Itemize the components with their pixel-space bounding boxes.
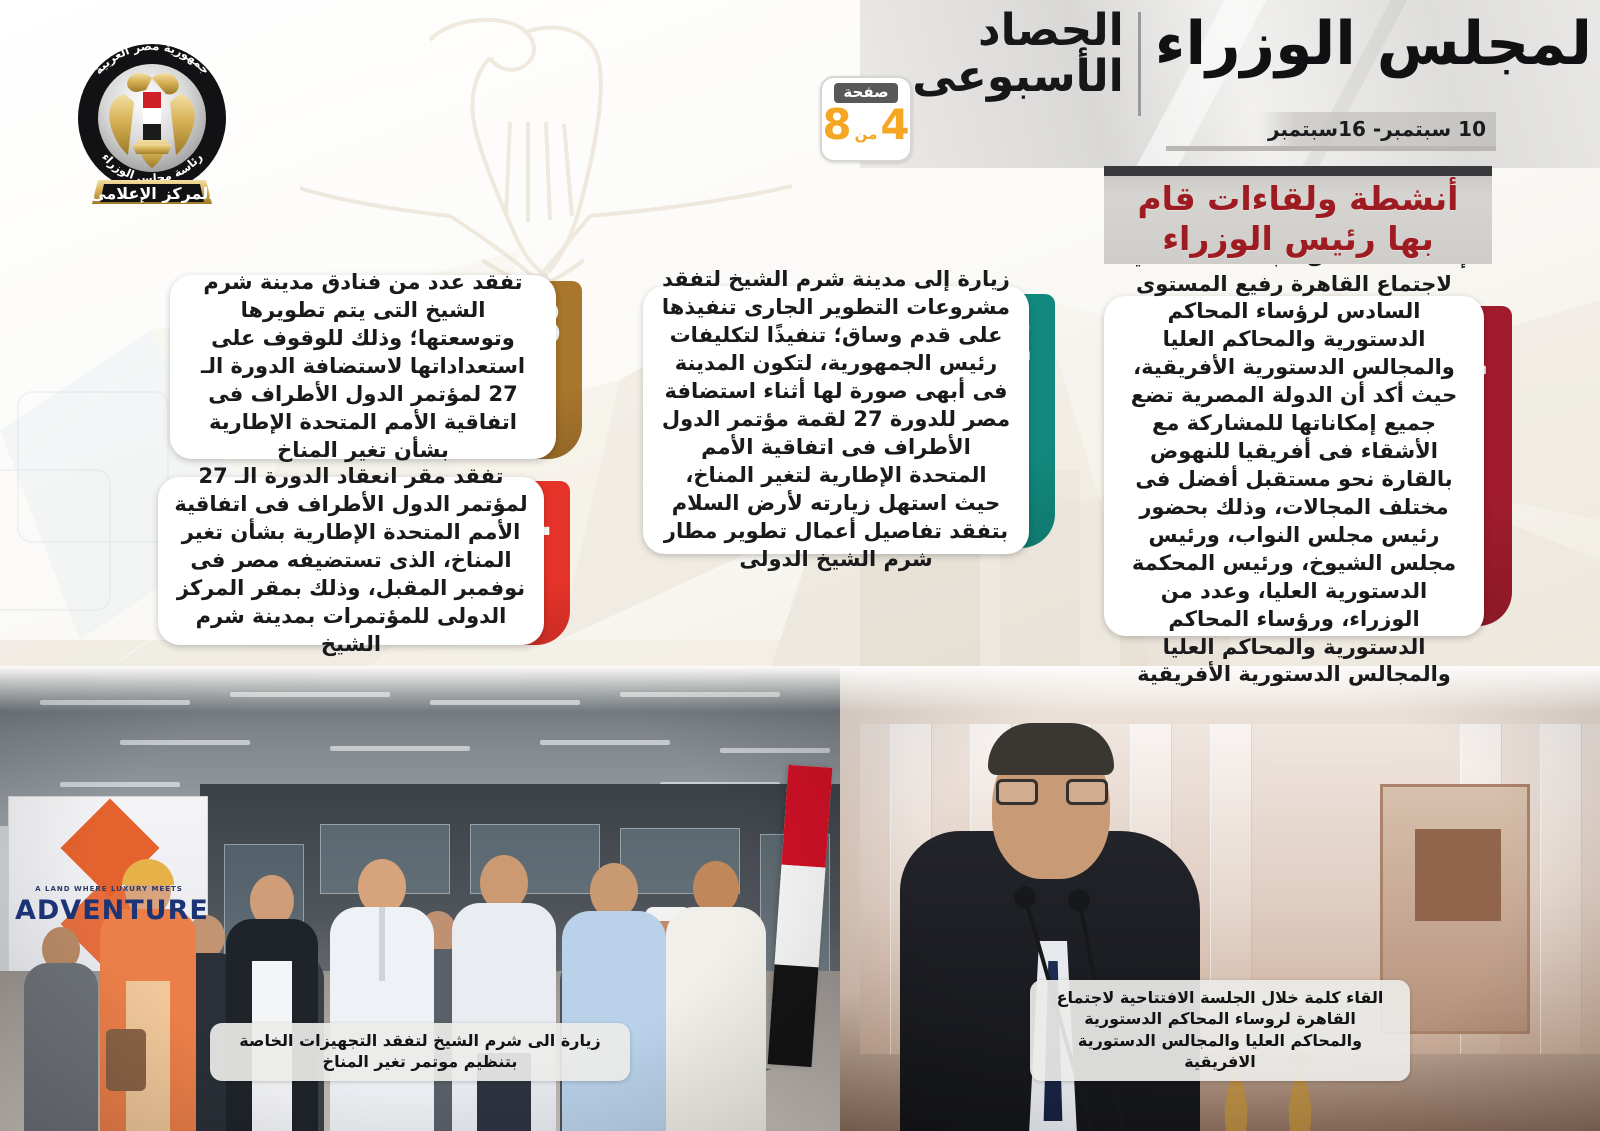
photo-sharm-airport-visit: A LAND WHERE LUXURY MEETS ADVENTURE <box>0 666 840 1131</box>
photo-left-caption: زيارة الى شرم الشيخ لتفقد التجهيزات الخا… <box>210 1023 630 1081</box>
activity-card-2-panel: زيارة إلى مدينة شرم الشيخ لتفقد مشروعات … <box>643 286 1029 554</box>
photo-strip: A LAND WHERE LUXURY MEETS ADVENTURE <box>0 666 1600 1131</box>
poster-header: لمجلس الوزراء الحصاد الأسبوعى 10 سبتمبر-… <box>892 4 1592 164</box>
page-subtitle: الحصاد الأسبوعى <box>912 6 1124 100</box>
activity-card-4: 4 تفقد مقر انعقاد الدورة الـ 27 لمؤتمر ا… <box>150 477 570 649</box>
date-range-text: 10 سبتمبر- 16سبتمبر <box>1268 117 1486 141</box>
handbag <box>106 1029 146 1091</box>
infographic-poster: جمهورية مصر العربية رئاسة مجلس الوزراء ا… <box>0 0 1600 1131</box>
activity-card-3: 3 تفقد عدد من فنادق مدينة شرم الشيخ التى… <box>162 275 582 463</box>
page-title: لمجلس الوزراء <box>1155 6 1592 74</box>
activity-card-2: 2 زيارة إلى مدينة شرم الشيخ لتفقد مشروعا… <box>635 286 1055 556</box>
page-badge-total: 8 <box>822 104 851 146</box>
activity-card-1-panel: إلقاء كلمة خلال الجلسة الافتتاحية لاجتما… <box>1104 296 1484 636</box>
section-heading-line1: أنشطة ولقاءات قام <box>1138 179 1459 219</box>
activity-card-2-text: زيارة إلى مدينة شرم الشيخ لتفقد مشروعات … <box>643 256 1029 583</box>
speaker-hair <box>988 723 1114 775</box>
section-heading: أنشطة ولقاءات قام بها رئيس الوزراء <box>1104 166 1492 264</box>
photo-left-caption-text: زيارة الى شرم الشيخ لتفقد التجهيزات الخا… <box>226 1030 614 1073</box>
page-badge-current: 4 <box>880 104 909 146</box>
page-subtitle-line2: الأسبوعى <box>912 54 1124 100</box>
activity-card-1: 1 إلقاء كلمة خلال الجلسة الافتتاحية لاجت… <box>1092 296 1512 636</box>
headscarf <box>122 859 174 885</box>
activity-card-4-panel: تفقد مقر انعقاد الدورة الـ 27 لمؤتمر الد… <box>158 477 544 645</box>
photo-right-caption: القاء كلمة خلال الجلسة الافتتاحية لاجتما… <box>1030 980 1410 1081</box>
activity-card-3-panel: تفقد عدد من فنادق مدينة شرم الشيخ التى ي… <box>170 275 556 459</box>
cabinet-media-center-logo: جمهورية مصر العربية رئاسة مجلس الوزراء ا… <box>62 22 242 212</box>
activity-card-4-text: تفقد مقر انعقاد الدورة الـ 27 لمؤتمر الد… <box>158 453 544 668</box>
activity-card-3-text: تفقد عدد من فنادق مدينة شرم الشيخ التى ي… <box>170 259 556 474</box>
page-number-badge: صفحة 4 من 8 <box>820 76 912 162</box>
date-range-bar: 10 سبتمبر- 16سبتمبر <box>1258 112 1496 146</box>
speaker-glasses <box>996 779 1108 805</box>
photo-pm-podium-speech: القاء كلمة خلال الجلسة الافتتاحية لاجتما… <box>840 666 1600 1131</box>
section-heading-text: أنشطة ولقاءات قام بها رئيس الوزراء <box>1138 171 1459 258</box>
page-subtitle-line1: الحصاد <box>912 8 1124 54</box>
section-heading-line2: بها رئيس الوزراء <box>1138 219 1459 259</box>
page-badge-of: من <box>855 127 878 142</box>
photo-right-caption-text: القاء كلمة خلال الجلسة الافتتاحية لاجتما… <box>1046 987 1394 1073</box>
date-underline <box>1166 146 1496 151</box>
title-divider <box>1138 12 1141 116</box>
delegation-crowd <box>0 831 840 1131</box>
page-badge-numbers: 4 من 8 <box>822 104 909 146</box>
activity-card-1-text: إلقاء كلمة خلال الجلسة الافتتاحية لاجتما… <box>1104 233 1484 700</box>
billboard-subtitle: A LAND WHERE LUXURY MEETS <box>23 885 195 893</box>
svg-text:المركز الإعلامى: المركز الإعلامى <box>90 184 214 203</box>
billboard-title: ADVENTURE <box>15 895 203 926</box>
